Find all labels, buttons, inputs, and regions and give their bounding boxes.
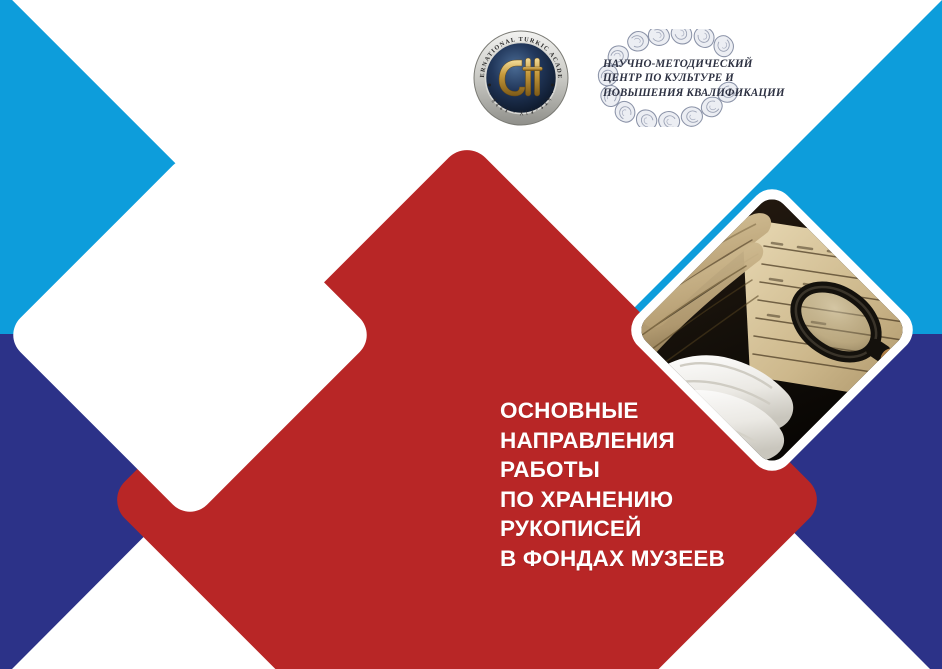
title-line-3: РАБОТЫ	[500, 455, 800, 485]
center-mark-text: НАУЧНО-МЕТОДИЧЕСКИЙ ЦЕНТР ПО КУЛЬТУРЕ И …	[603, 57, 789, 100]
title-line-5: РУКОПИСЕЙ	[500, 514, 800, 544]
title-line-6: В ФОНДАХ МУЗЕЕВ	[500, 544, 800, 574]
title-line-1: ОСНОВНЫЕ	[500, 396, 800, 426]
title-line-2: НАПРАВЛЕНИЯ	[500, 426, 800, 456]
cover-page: INTERNATIONAL TURKIC ACADEMY · ᛋᛉᛏᚲᚠᛁᚷ ·…	[0, 0, 942, 669]
title-line-4: ПО ХРАНЕНИЮ	[500, 485, 800, 515]
center-mark: НАУЧНО-МЕТОДИЧЕСКИЙ ЦЕНТР ПО КУЛЬТУРЕ И …	[577, 29, 787, 127]
center-line-1: НАУЧНО-МЕТОДИЧЕСКИЙ	[603, 57, 789, 71]
center-line-3: ПОВЫШЕНИЯ КВАЛИФИКАЦИИ	[603, 86, 789, 100]
academy-seal-icon: INTERNATIONAL TURKIC ACADEMY · ᛋᛉᛏᚲᚠᛁᚷ ·…	[473, 30, 569, 126]
center-line-2: ЦЕНТР ПО КУЛЬТУРЕ И	[603, 71, 789, 85]
header-logos: INTERNATIONAL TURKIC ACADEMY · ᛋᛉᛏᚲᚠᛁᚷ ·…	[473, 22, 803, 134]
page-title: ОСНОВНЫЕ НАПРАВЛЕНИЯ РАБОТЫ ПО ХРАНЕНИЮ …	[500, 396, 800, 574]
